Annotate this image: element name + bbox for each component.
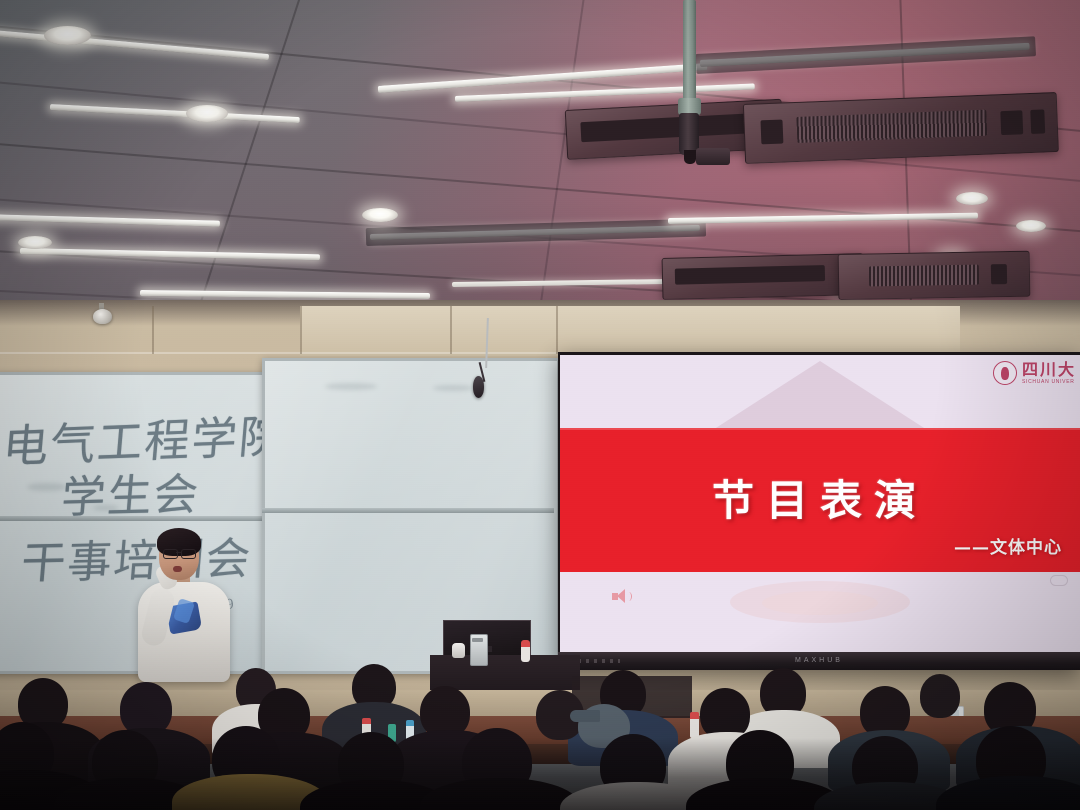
slide-watermark-badge: [1050, 575, 1068, 586]
whiteboard-text-line3: 干事培训会: [19, 523, 255, 592]
projector-mount-pole: [683, 0, 696, 110]
university-seal-icon: [993, 361, 1017, 385]
slide-title: 节目表演: [560, 467, 1080, 528]
recessed-downlight: [362, 208, 398, 222]
slide-watermark-base-inner: [762, 591, 878, 615]
ac-cassette-vent: [743, 92, 1059, 164]
presenter-mouth: [173, 566, 182, 572]
whiteboard-text-line2: 学生会: [59, 458, 202, 525]
podium-bottle: [521, 640, 530, 662]
display-screen[interactable]: 节目表演 ——文体中心 四川大 SICHUAN UNIVER: [560, 355, 1080, 652]
university-name-cn: 四川大: [1022, 362, 1076, 378]
glasses-right-lens: [181, 549, 196, 559]
wall-seam: [152, 306, 154, 354]
whiteboard-divider: [262, 508, 554, 513]
audience: [0, 660, 1080, 810]
ac-cassette-vent: [838, 251, 1031, 300]
water-bottle: [690, 712, 699, 738]
pole-tip: [684, 150, 696, 164]
recessed-downlight: [44, 26, 91, 45]
recessed-downlight: [1016, 220, 1046, 232]
wall-seam: [300, 306, 302, 354]
cap-brim: [570, 710, 600, 722]
glasses-bridge: [176, 552, 181, 553]
slide-subtitle: ——文体中心: [954, 533, 1062, 558]
podium-cup: [452, 643, 465, 658]
university-name-en: SICHUAN UNIVER: [1022, 380, 1076, 385]
hanging-microphone: [473, 376, 484, 398]
sichuan-university-logo: 四川大 SICHUAN UNIVER: [993, 361, 1076, 385]
glasses-left-lens: [163, 549, 178, 559]
slide-watermark-roof: [705, 361, 935, 435]
lecture-hall-photo: 电气工程学院 学生会 干事培训会 10.29 节目表演 ——文体中心: [0, 0, 1080, 810]
wall-upper-band: [300, 306, 960, 356]
wall-seam: [556, 306, 558, 354]
speaker-icon[interactable]: [612, 589, 632, 604]
recessed-downlight: [186, 105, 228, 122]
wall-seam: [450, 306, 452, 354]
audience-head: [920, 674, 960, 718]
audience-foreground-shadow: [0, 738, 1080, 810]
podium-device-slot: [472, 638, 483, 642]
maxhub-display[interactable]: 节目表演 ——文体中心 四川大 SICHUAN UNIVER: [558, 352, 1080, 670]
ceiling-camera: [696, 148, 730, 165]
security-camera: [93, 309, 112, 324]
recessed-downlight: [18, 236, 52, 249]
ac-cassette-vent: [661, 253, 864, 300]
recessed-downlight: [956, 192, 988, 205]
ceiling: [0, 0, 1080, 318]
